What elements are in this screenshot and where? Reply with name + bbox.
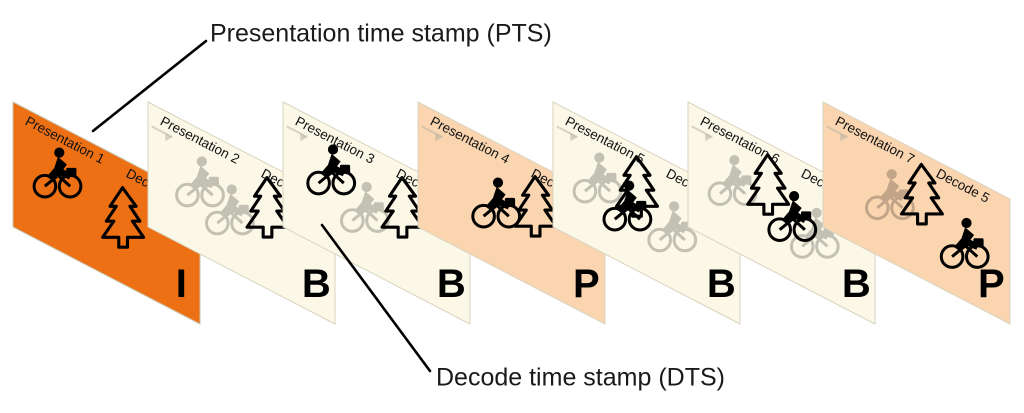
- pts-callout-text: Presentation time stamp (PTS): [210, 20, 552, 48]
- video-frame-order-diagram: Presentation 1Decode 1IPresentation 2Dec…: [0, 0, 1024, 413]
- frame-type-letter-2: B: [302, 262, 331, 306]
- frame-type-letter-4: P: [573, 262, 600, 306]
- frame-type-letter-1: I: [176, 262, 187, 306]
- diagram-canvas: Presentation 1Decode 1IPresentation 2Dec…: [0, 0, 1024, 413]
- dts-callout-text: Decode time stamp (DTS): [436, 364, 725, 392]
- frame-type-letter-7: P: [978, 262, 1005, 306]
- frame-type-letter-3: B: [437, 262, 466, 306]
- frame-type-letter-5: B: [707, 262, 736, 306]
- frames-layer: Presentation 1Decode 1IPresentation 2Dec…: [13, 102, 1010, 324]
- frame-type-letter-6: B: [842, 262, 871, 306]
